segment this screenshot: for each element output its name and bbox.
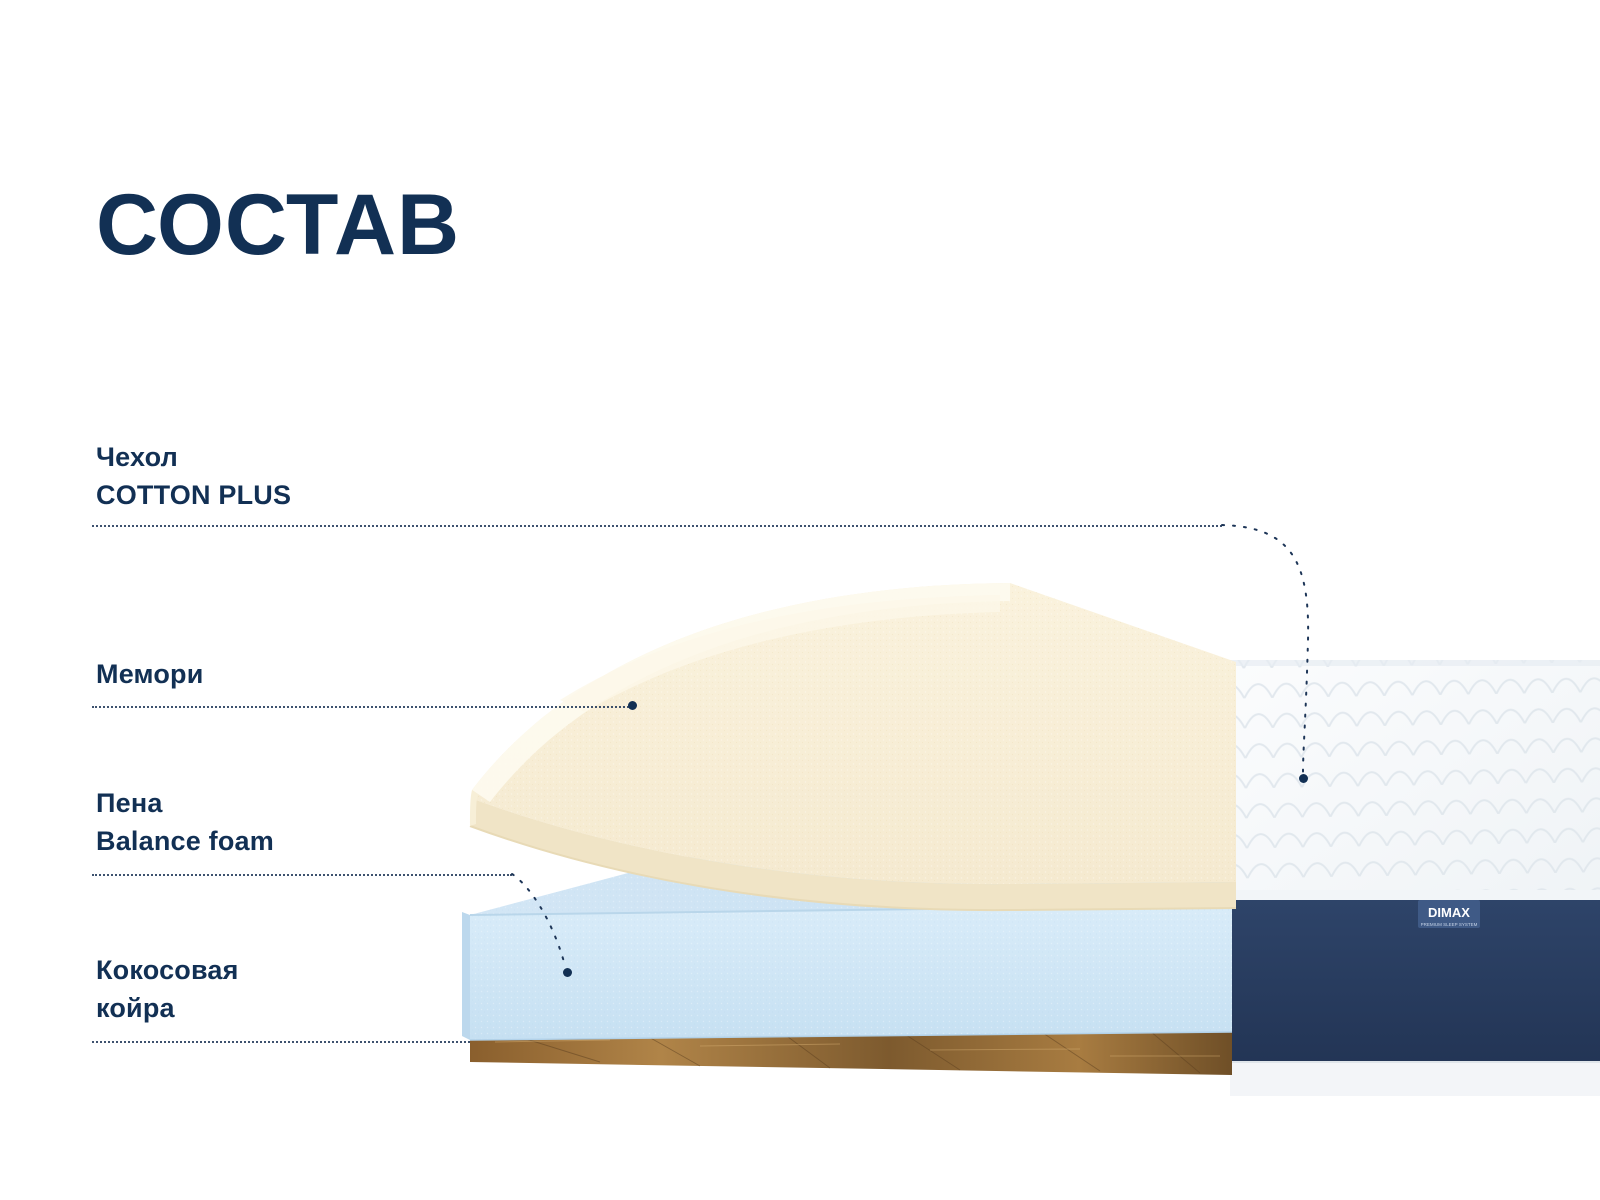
layer-label-foam-line1: Пена bbox=[96, 788, 163, 818]
leader-line-foam bbox=[92, 874, 512, 876]
brand-badge: DIMAX PREMIUM SLEEP SYSTEM bbox=[1418, 900, 1480, 928]
layer-label-cover-line2: COTTON PLUS bbox=[96, 476, 291, 514]
layer-label-foam: Пена Balance foam bbox=[96, 784, 274, 861]
slide-canvas: СОСТАВ bbox=[0, 0, 1600, 1200]
layer-label-foam-line2: Balance foam bbox=[96, 822, 274, 860]
memory-foam-layer bbox=[470, 578, 1236, 910]
cover-layer: DIMAX PREMIUM SLEEP SYSTEM bbox=[1230, 660, 1600, 1096]
layer-label-coir-line2: койра bbox=[96, 989, 239, 1027]
leader-line-memory bbox=[92, 706, 632, 708]
leader-line-cover bbox=[92, 525, 1222, 527]
leader-line-coir bbox=[92, 1041, 470, 1043]
mattress-illustration: DIMAX PREMIUM SLEEP SYSTEM bbox=[0, 0, 1600, 1200]
layer-label-coir-line1: Кокосовая bbox=[96, 955, 239, 985]
layer-label-memory: Мемори bbox=[96, 655, 204, 693]
connector-dot-foam bbox=[563, 968, 572, 977]
connector-dot-cover bbox=[1299, 774, 1308, 783]
layer-label-cover: Чехол COTTON PLUS bbox=[96, 438, 291, 515]
layer-label-memory-line1: Мемори bbox=[96, 659, 204, 689]
svg-text:PREMIUM SLEEP SYSTEM: PREMIUM SLEEP SYSTEM bbox=[1421, 922, 1478, 927]
connector-dot-memory bbox=[628, 701, 637, 710]
svg-text:DIMAX: DIMAX bbox=[1428, 905, 1470, 920]
layer-label-coir: Кокосовая койра bbox=[96, 951, 239, 1028]
layer-label-cover-line1: Чехол bbox=[96, 442, 178, 472]
